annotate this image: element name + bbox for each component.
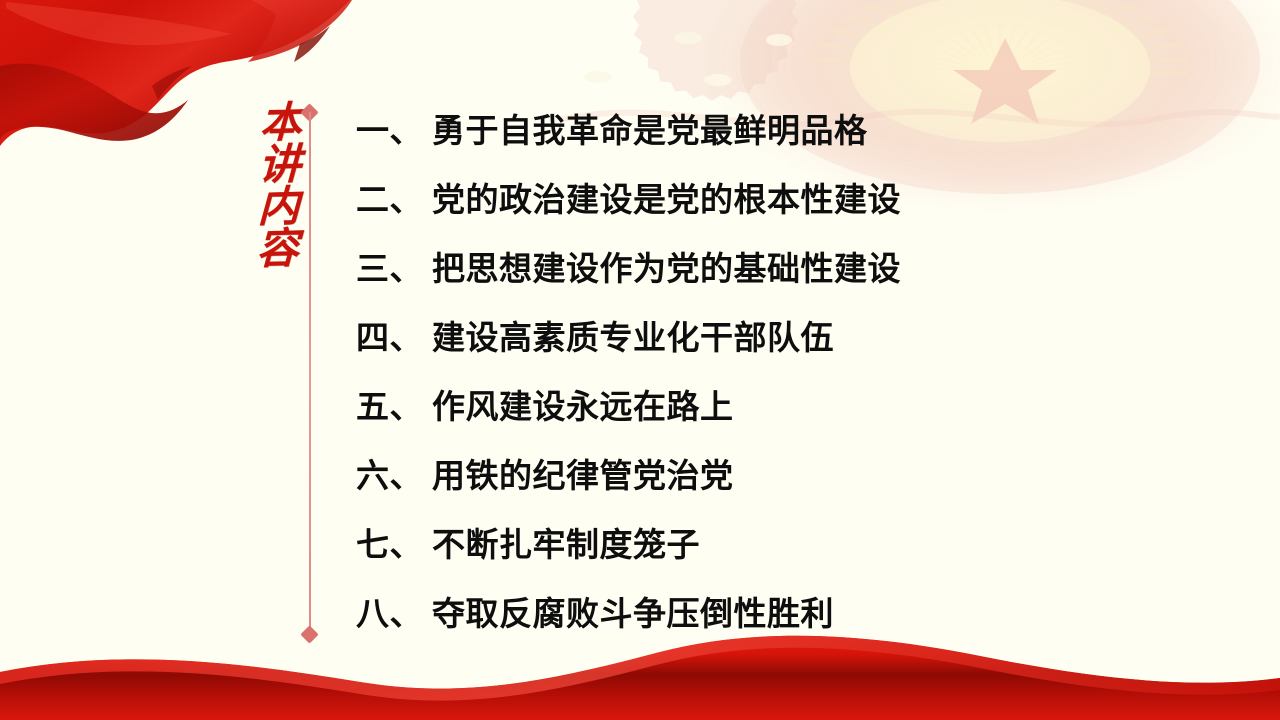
agenda-item[interactable]: 六、 用铁的纪律管党治党	[356, 449, 1176, 518]
agenda-item-index: 二、	[356, 173, 432, 221]
flag-tail	[248, 0, 352, 62]
sunburst-rays-icon	[812, 0, 1190, 76]
agenda-item-index: 六、	[356, 449, 432, 497]
agenda-item-label: 不断扎牢制度笼子	[432, 518, 700, 566]
divider-diamond-bottom	[300, 625, 318, 643]
agenda-item[interactable]: 八、 夺取反腐败斗争压倒性胜利	[356, 587, 1176, 656]
flag-highlight	[6, 2, 232, 45]
agenda-item-label: 把思想建设作为党的基础性建设	[432, 242, 901, 290]
agenda-item-label: 建设高素质专业化干部队伍	[432, 311, 834, 359]
agenda-item-index: 七、	[356, 518, 432, 566]
vertical-divider	[309, 112, 311, 634]
flag-tail-tip	[294, 26, 330, 62]
agenda-item-label: 勇于自我革命是党最鲜明品格	[432, 104, 868, 152]
agenda-item-index: 三、	[356, 242, 432, 290]
agenda-item-label: 用铁的纪律管党治党	[432, 449, 734, 497]
agenda-list: 一、 勇于自我革命是党最鲜明品格 二、 党的政治建设是党的根本性建设 三、 把思…	[356, 104, 1176, 656]
section-title: 本讲内容	[239, 99, 305, 269]
agenda-item-index: 四、	[356, 311, 432, 359]
agenda-item[interactable]: 七、 不断扎牢制度笼子	[356, 518, 1176, 587]
agenda-item[interactable]: 五、 作风建设永远在路上	[356, 380, 1176, 449]
slide-canvas: 本讲内容 一、 勇于自我革命是党最鲜明品格 二、 党的政治建设是党的根本性建设 …	[0, 0, 1280, 720]
agenda-item-label: 夺取反腐败斗争压倒性胜利	[432, 587, 834, 635]
agenda-item-label: 党的政治建设是党的根本性建设	[432, 173, 901, 221]
flag-under-fold	[0, 64, 188, 141]
agenda-item[interactable]: 一、 勇于自我革命是党最鲜明品格	[356, 104, 1176, 173]
flag-crease	[152, 66, 192, 100]
agenda-item[interactable]: 二、 党的政治建设是党的根本性建设	[356, 173, 1176, 242]
agenda-item-label: 作风建设永远在路上	[432, 380, 734, 428]
agenda-item-index: 五、	[356, 380, 432, 428]
agenda-item-index: 八、	[356, 587, 432, 635]
gear-holes	[584, 32, 792, 86]
agenda-item-index: 一、	[356, 104, 432, 152]
agenda-item[interactable]: 四、 建设高素质专业化干部队伍	[356, 311, 1176, 380]
agenda-item[interactable]: 三、 把思想建设作为党的基础性建设	[356, 242, 1176, 311]
gear-emblem-icon	[633, 0, 798, 101]
